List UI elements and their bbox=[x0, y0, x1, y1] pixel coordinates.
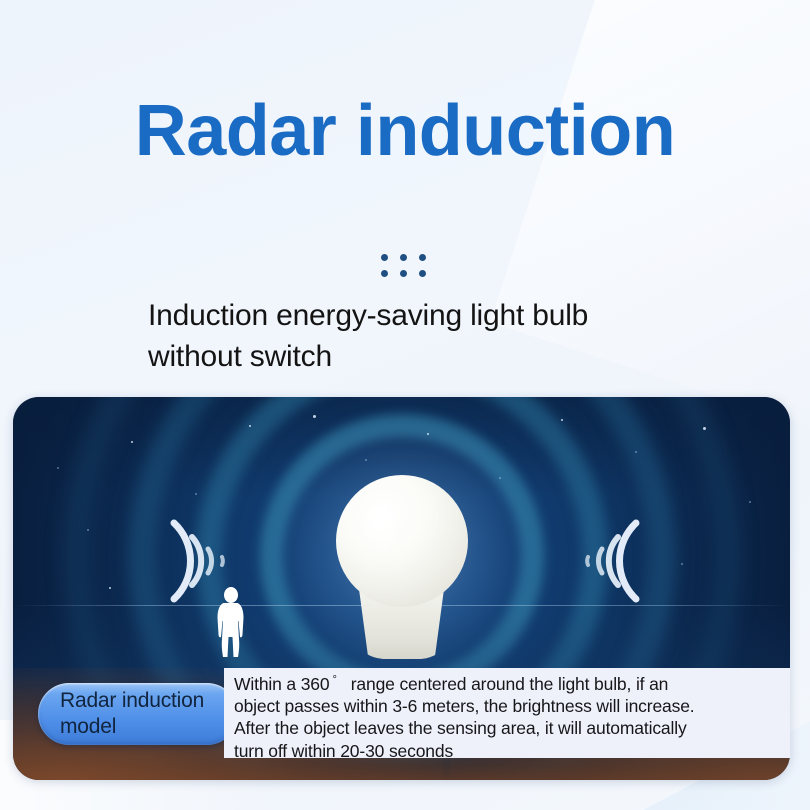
degree-symbol: ° bbox=[329, 674, 350, 686]
description-line-4: turn off within 20-30 seconds bbox=[234, 740, 782, 762]
person-silhouette-icon bbox=[210, 587, 252, 659]
star-icon bbox=[313, 415, 316, 418]
star-icon bbox=[195, 493, 197, 495]
decorative-dot-grid bbox=[381, 254, 429, 280]
grid-dot bbox=[419, 254, 426, 261]
description-overlay-panel: Within a 360°range centered around the l… bbox=[224, 668, 790, 758]
badge-label-line-1: Radar induction bbox=[60, 688, 204, 714]
star-icon bbox=[87, 529, 89, 531]
bulb-highlight bbox=[362, 501, 406, 559]
subtitle-line-1: Induction energy-saving light bulb bbox=[148, 296, 768, 337]
star-icon bbox=[703, 427, 706, 430]
star-icon bbox=[499, 477, 501, 479]
signal-waves-right-icon bbox=[566, 513, 644, 609]
page-title: Radar induction bbox=[0, 95, 810, 167]
star-icon bbox=[131, 441, 133, 443]
badge-label-line-2: model bbox=[60, 714, 204, 740]
star-icon bbox=[427, 433, 429, 435]
grid-dot bbox=[381, 270, 388, 277]
star-icon bbox=[109, 587, 111, 589]
led-light-bulb bbox=[336, 475, 468, 665]
badge-label: Radar induction model bbox=[60, 688, 204, 739]
grid-dot bbox=[400, 270, 407, 277]
page-root: Radar induction Induction energy-saving … bbox=[0, 0, 810, 810]
star-icon bbox=[57, 467, 59, 469]
star-icon bbox=[749, 501, 751, 503]
description-line-1-post: range centered around the light bulb, if… bbox=[351, 674, 669, 694]
star-icon bbox=[681, 563, 683, 565]
page-subtitle: Induction energy-saving light bulb witho… bbox=[148, 296, 768, 378]
star-icon bbox=[635, 451, 637, 453]
grid-dot bbox=[400, 254, 407, 261]
grid-dot bbox=[419, 270, 426, 277]
description-line-2: object passes within 3-6 meters, the bri… bbox=[234, 695, 782, 717]
description-line-1: Within a 360°range centered around the l… bbox=[234, 673, 782, 695]
star-icon bbox=[561, 419, 563, 421]
description-line-3: After the object leaves the sensing area… bbox=[234, 717, 782, 739]
background-sheen-top-right bbox=[490, 0, 810, 452]
radar-induction-model-badge[interactable]: Radar induction model bbox=[38, 683, 238, 745]
description-line-1-pre: Within a 360 bbox=[234, 674, 329, 694]
star-icon bbox=[365, 459, 367, 461]
description-text: Within a 360°range centered around the l… bbox=[234, 673, 782, 762]
star-icon bbox=[249, 425, 251, 427]
grid-dot bbox=[381, 254, 388, 261]
subtitle-line-2: without switch bbox=[148, 337, 768, 378]
